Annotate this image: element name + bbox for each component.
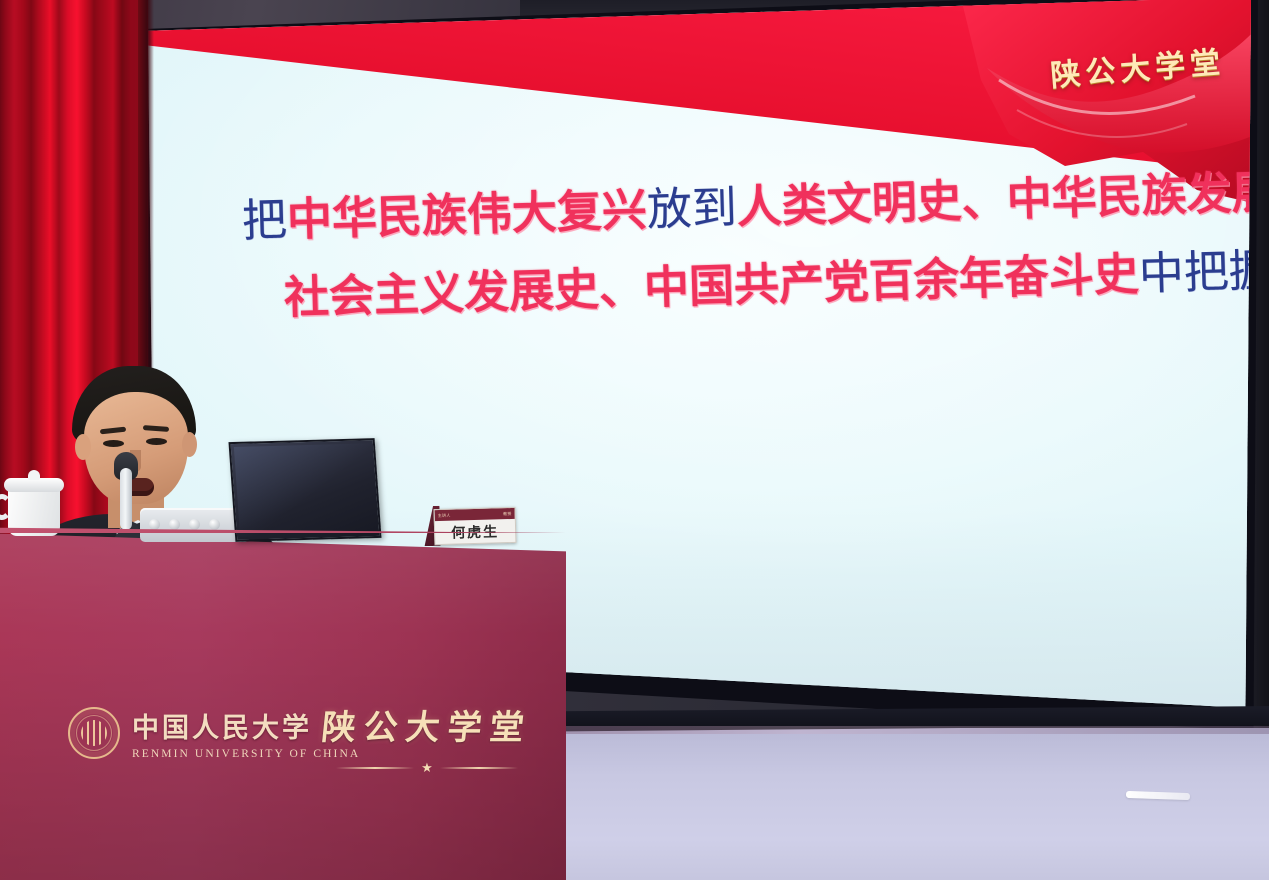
university-seal-icon: [68, 707, 120, 759]
program-divider-right: [440, 767, 518, 769]
slide-seg-2-2: 中把握。: [1138, 243, 1251, 301]
speaker-eye-left: [103, 440, 124, 447]
speaker-nameplate: 主讲人 教授 何虎生: [434, 507, 517, 545]
teacup-lid: [4, 478, 64, 492]
star-icon: ★: [421, 761, 433, 774]
speaker-eye-right: [146, 438, 167, 445]
stage-floor-edge: [480, 726, 1269, 734]
microphone-buttons: [149, 519, 220, 530]
laptop-screen: [228, 438, 381, 542]
nameplate-header-right: 教授: [503, 510, 512, 516]
slide-seg-2-1: 社会主义发展史、中国共产党百余年奋斗史: [283, 248, 1139, 325]
nameplate-name: 何虎生: [435, 519, 516, 544]
slide-body-text: 把中华民族伟大复兴放到人类文明史、中华民族发展史、 社会主义发展史、中国共产党百…: [241, 161, 1205, 345]
program-emblem: 陕公大学堂 ★: [322, 700, 532, 774]
teacup-lid-knob: [28, 470, 40, 480]
slide-line-2: 社会主义发展史、中国共产党百余年奋斗史中把握。: [283, 239, 1205, 333]
slide-seg-1-4: 人类文明史、中华民族发展史、: [736, 163, 1251, 234]
slide-seg-1-3: 放到: [646, 181, 737, 236]
university-logo: 中国人民大学 RENMIN UNIVERSITY OF CHINA: [68, 706, 360, 760]
speaker-ear-right: [182, 432, 197, 457]
program-divider: ★: [322, 761, 532, 774]
microphone-stem: [120, 468, 132, 530]
nameplate-header-left: 主讲人: [438, 512, 451, 518]
lecture-hall-scene: 陕公大学堂 把中华民族伟大复兴放到人类文明史、中华民族发展史、 社会主义发展史、…: [0, 0, 1269, 880]
slide-seg-1-1: 把: [241, 193, 287, 247]
slide-seg-1-2: 中华民族伟大复兴: [286, 183, 647, 246]
program-name-cn: 陕公大学堂: [319, 700, 534, 749]
stage-floor: [480, 728, 1269, 880]
program-divider-left: [336, 767, 414, 769]
speaker-ear-left: [75, 434, 91, 460]
